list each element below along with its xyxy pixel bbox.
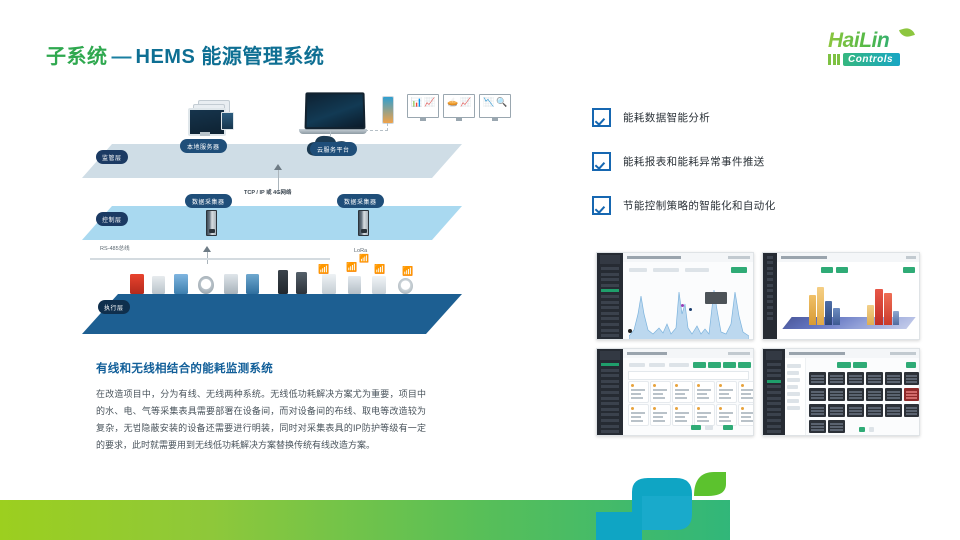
meter-device-1 <box>130 274 144 294</box>
decorative-shape-green-large <box>692 468 728 498</box>
device-tile <box>866 372 883 385</box>
meter-device-9 <box>322 274 336 294</box>
feature-checklist: 能耗数据智能分析 能耗报表和能耗异常事件推送 节能控制策略的智能化和自动化 <box>592 108 776 215</box>
rs485-bus-line <box>90 258 330 260</box>
screenshot-energy-3d-bar-chart[interactable] <box>762 252 920 340</box>
caption-body: 在改造项目中，分为有线、无线两种系统。无线低功耗解决方案尤为重要，项目中的水、电… <box>96 386 426 454</box>
link-label-rs485: RS-485总线 <box>100 244 130 252</box>
layer-label-execution: 执行层 <box>98 300 130 314</box>
data-collector-device-2 <box>358 210 369 236</box>
list-item <box>738 381 754 403</box>
decorative-shape-teal-front <box>596 496 726 540</box>
meter-device-10 <box>348 276 361 294</box>
device-tile <box>847 372 864 385</box>
layer-label-control: 控制层 <box>96 212 128 226</box>
gauge-device-4 <box>198 276 214 294</box>
screenshot-content <box>777 262 919 339</box>
list-item <box>650 404 671 426</box>
area-chart <box>629 284 747 333</box>
layer-plane-control <box>82 206 462 240</box>
brand-logo-tagline: Controls <box>843 53 900 66</box>
controller-device-8 <box>296 272 307 294</box>
device-tile <box>847 404 864 417</box>
dashboard-monitor-icon-1: 📊📈 <box>407 94 439 118</box>
screenshot-content <box>623 262 753 339</box>
caption-title: 有线和无线相结合的能耗监测系统 <box>96 360 273 376</box>
meter-device-5 <box>224 274 238 294</box>
wifi-icon-2: 📶 <box>346 262 357 273</box>
device-tile <box>809 420 826 433</box>
search-input[interactable] <box>628 371 749 380</box>
brand-logo-wordmark: HaiLin <box>828 30 946 51</box>
controller-device-7 <box>278 270 288 294</box>
layer-label-management: 监管层 <box>96 150 128 164</box>
device-tile <box>809 388 826 401</box>
checklist-item[interactable]: 节能控制策略的智能化和自动化 <box>592 196 776 215</box>
screenshot-energy-trend-chart[interactable] <box>596 252 754 340</box>
uplink-arrow <box>274 164 282 170</box>
laptop-icon <box>305 92 367 134</box>
link-cloud-phone <box>330 130 388 131</box>
checklist-item[interactable]: 能耗数据智能分析 <box>592 108 776 127</box>
list-item <box>716 381 737 403</box>
checkbox-checked-icon[interactable] <box>592 196 611 215</box>
device-tile <box>904 404 919 417</box>
list-item <box>628 381 649 403</box>
dashboard-monitor-icon-2: 🥧📈 <box>443 94 475 118</box>
pagination-current[interactable] <box>691 425 701 430</box>
device-tile <box>866 404 883 417</box>
device-tile <box>885 404 902 417</box>
list-item <box>628 404 649 426</box>
layer-plane-management <box>82 144 462 178</box>
pagination-next[interactable] <box>869 427 874 432</box>
local-server-icon <box>188 100 234 134</box>
bars-icon <box>828 54 840 65</box>
list-item <box>694 381 715 403</box>
screenshot-device-card-list[interactable] <box>596 348 754 436</box>
brand-logo: HaiLin Controls <box>828 30 946 72</box>
meter-device-2 <box>152 276 165 294</box>
wifi-icon-3: 📶 <box>374 264 385 275</box>
node-label-local-server: 本地服务器 <box>180 139 227 153</box>
pagination-last[interactable] <box>723 425 733 430</box>
checklist-item[interactable]: 能耗报表和能耗异常事件推送 <box>592 152 776 171</box>
meter-device-11 <box>372 276 386 294</box>
page-title-secondary: HEMS 能源管理系统 <box>136 40 325 69</box>
page-title: 子系统 — HEMS 能源管理系统 <box>46 40 324 69</box>
link-label-network: TCP / IP 或 4G网络 <box>244 188 291 196</box>
device-tile <box>866 388 883 401</box>
page-title-dash: — <box>108 46 136 69</box>
link-phone-down <box>387 123 389 131</box>
wifi-icon-4: 📶 <box>402 266 413 277</box>
list-item <box>694 404 715 426</box>
device-tile <box>885 372 902 385</box>
device-tile <box>847 388 864 401</box>
screenshot-sidebar <box>597 253 623 339</box>
list-item <box>738 404 754 426</box>
data-collector-device-1 <box>206 210 217 236</box>
footer-white-mask <box>730 500 960 540</box>
device-tile <box>828 372 845 385</box>
lora-antenna-icon: 📶 <box>359 254 369 263</box>
screenshot-device-tile-monitor[interactable] <box>762 348 920 436</box>
slide-root: 子系统 — HEMS 能源管理系统 HaiLin Controls 监管层 控制 <box>0 0 960 540</box>
device-tile <box>809 404 826 417</box>
device-tile <box>828 420 845 433</box>
list-item <box>650 381 671 403</box>
screenshot-gallery <box>596 252 920 436</box>
screenshot-content <box>785 358 919 435</box>
list-item <box>672 381 693 403</box>
layer-plane-execution <box>82 294 462 334</box>
meter-device-6 <box>246 274 259 294</box>
screenshot-subnav <box>785 358 806 435</box>
list-item <box>716 404 737 426</box>
device-tile <box>828 404 845 417</box>
device-tile <box>828 388 845 401</box>
checkbox-checked-icon[interactable] <box>592 108 611 127</box>
device-tile <box>904 372 919 385</box>
device-tile <box>809 372 826 385</box>
dashboard-monitor-icon-3: 📉🔍 <box>479 94 511 118</box>
screenshot-content <box>623 358 753 435</box>
device-tile-alarm <box>904 388 919 401</box>
screenshot-sidebar <box>597 349 623 435</box>
pagination-current[interactable] <box>859 427 865 432</box>
checkbox-checked-icon[interactable] <box>592 152 611 171</box>
checklist-item-label: 能耗报表和能耗异常事件推送 <box>623 154 765 169</box>
smartphone-icon <box>382 96 394 124</box>
page-title-primary: 子系统 <box>46 40 108 69</box>
pagination-next[interactable] <box>705 425 713 430</box>
meter-device-3 <box>174 274 188 294</box>
gauge-device-12 <box>398 278 413 294</box>
chart-tooltip <box>705 292 727 304</box>
node-label-collector-2: 数据采集器 <box>337 194 384 208</box>
brand-logo-subrow: Controls <box>828 53 946 66</box>
device-tile <box>885 388 902 401</box>
checklist-item-label: 能耗数据智能分析 <box>623 110 710 125</box>
screenshot-sidebar <box>763 253 777 339</box>
architecture-diagram: 监管层 控制层 执行层 本地服务器 <box>82 78 542 348</box>
screenshot-sidebar <box>763 349 785 435</box>
checklist-item-label: 节能控制策略的智能化和自动化 <box>623 198 776 213</box>
list-item <box>672 404 693 426</box>
node-label-collector-1: 数据采集器 <box>185 194 232 208</box>
node-label-cloud-platform: 云服务平台 <box>310 142 357 156</box>
